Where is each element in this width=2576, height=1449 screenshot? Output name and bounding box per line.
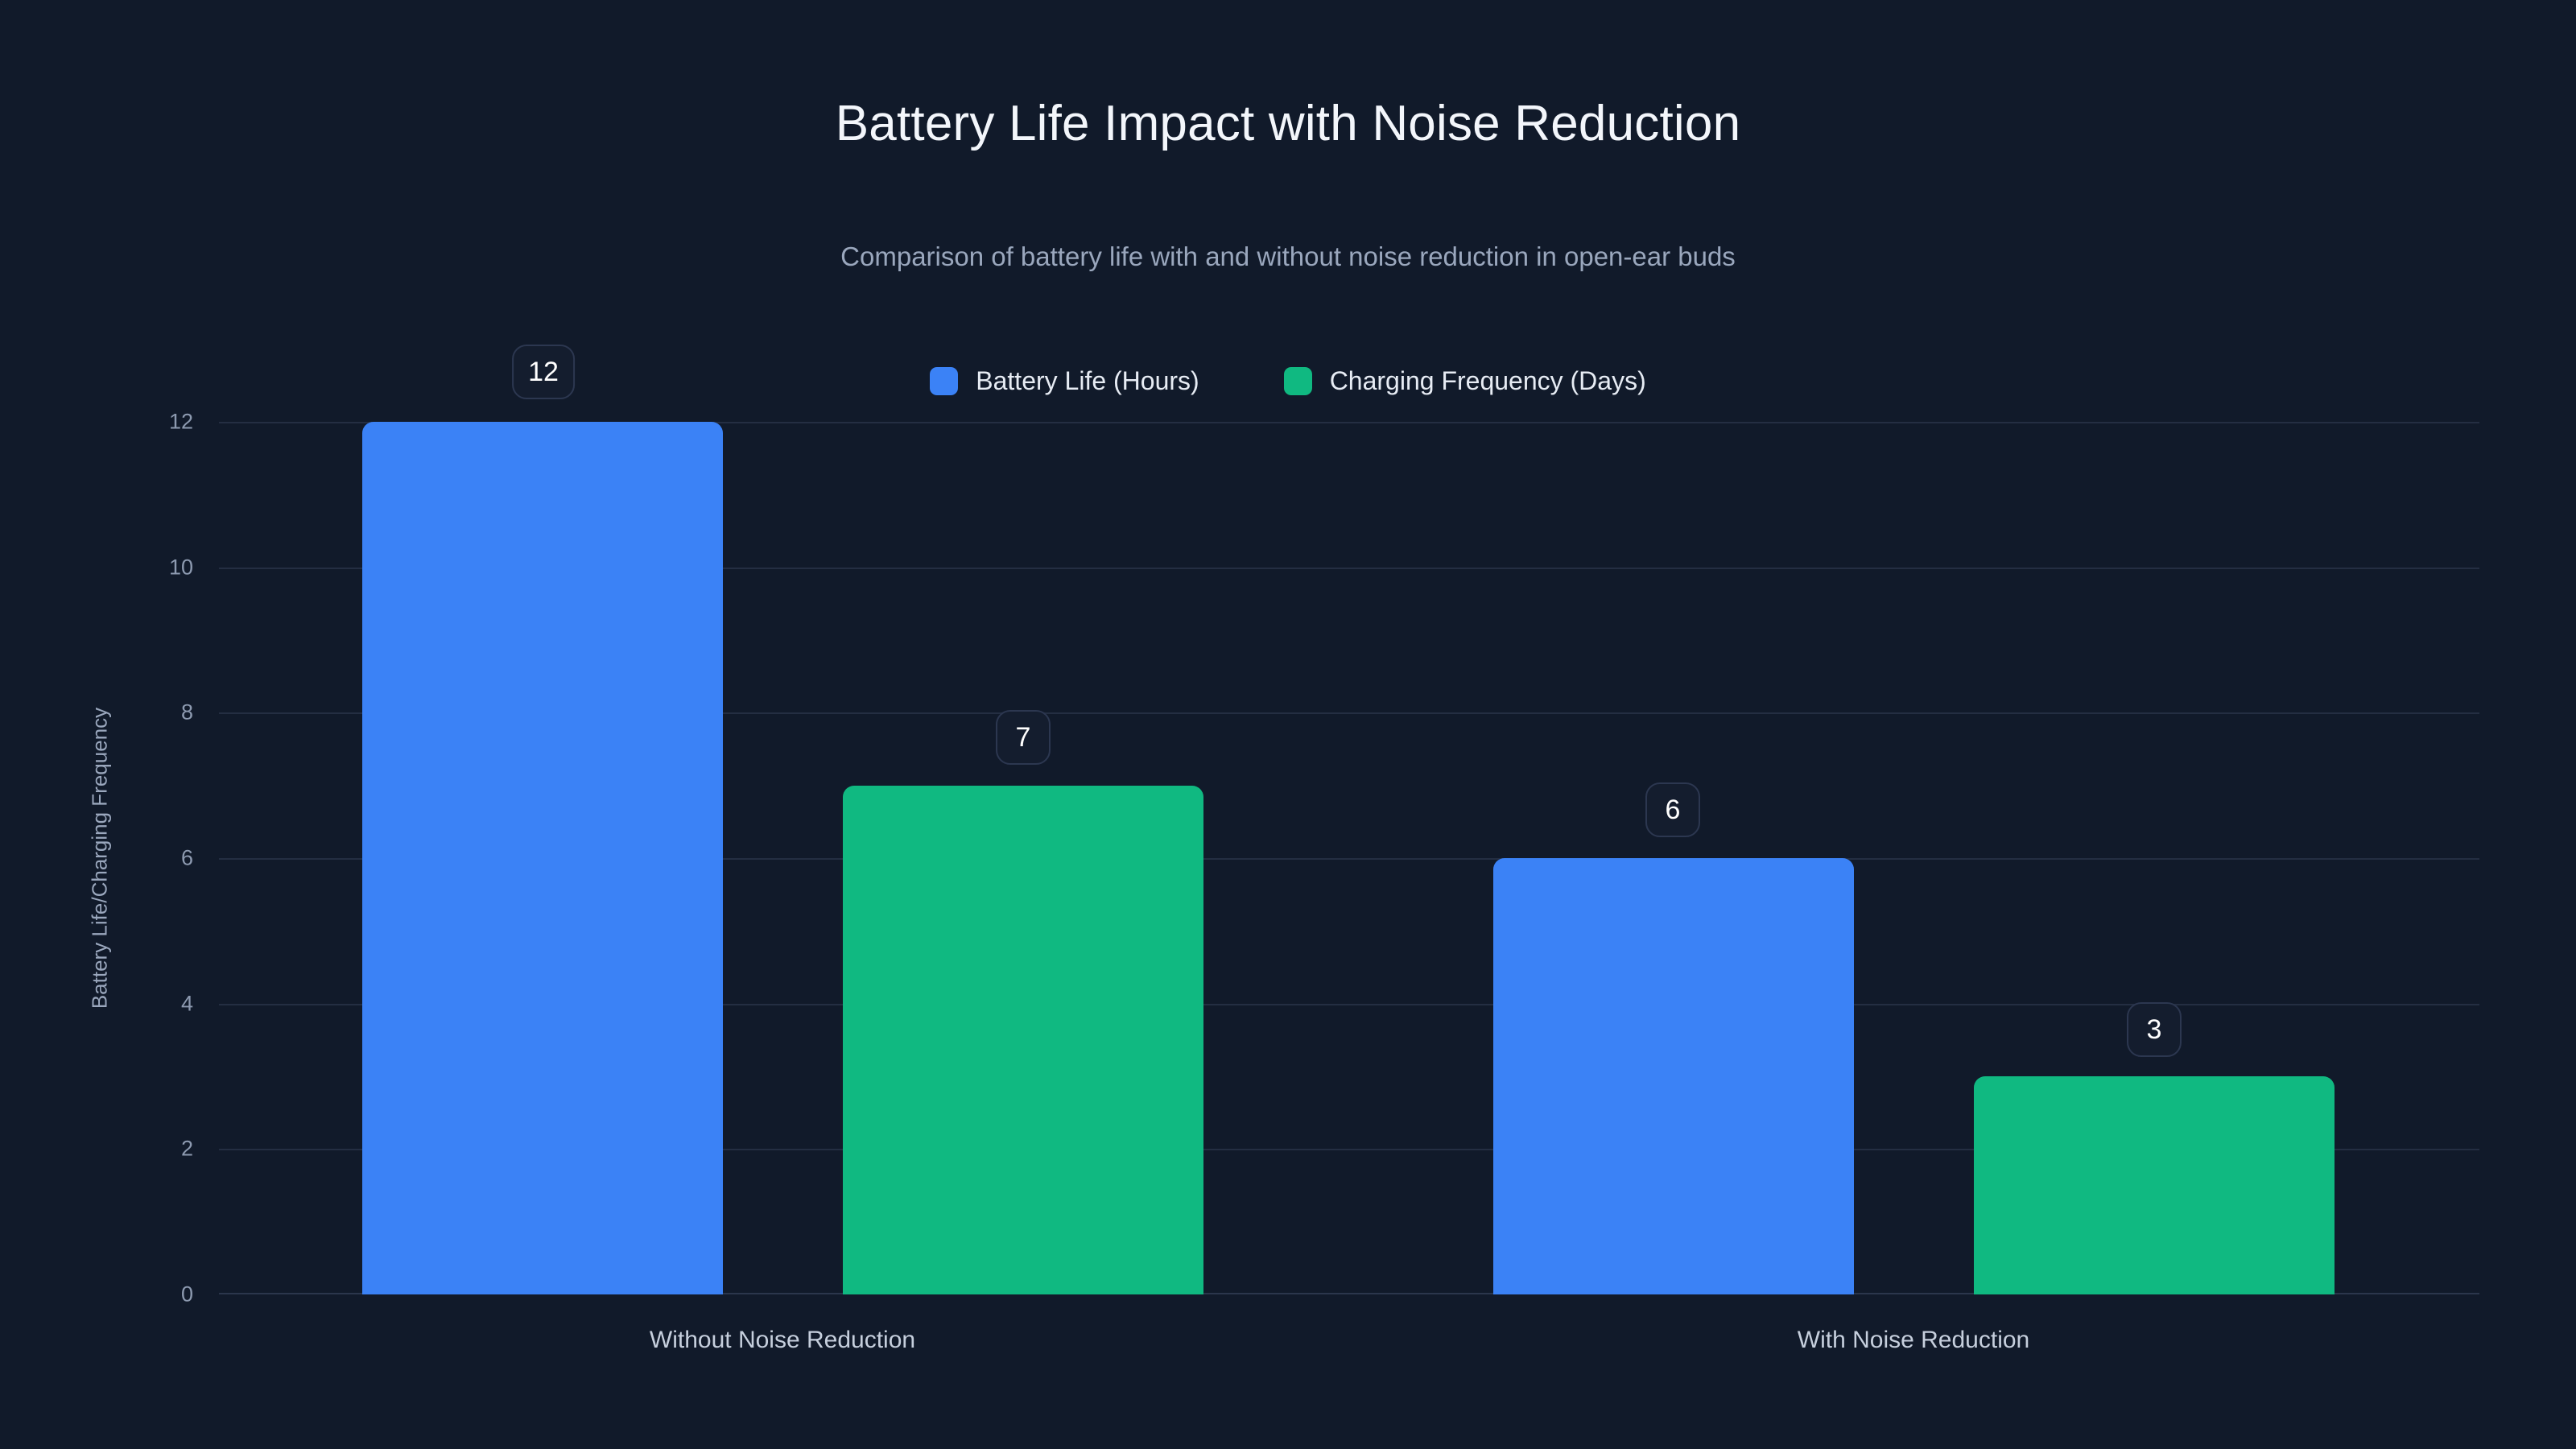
value-badge-6: 6	[1645, 782, 1700, 837]
y-tick-6: 6	[137, 846, 193, 871]
value-badge-3: 3	[2127, 1002, 2182, 1057]
y-tick-8: 8	[137, 700, 193, 725]
y-tick-10: 10	[137, 555, 193, 580]
bar-with-noise-reduction-battery-life[interactable]	[1493, 858, 1854, 1294]
plot-area	[219, 422, 2479, 1294]
chart-canvas: Battery Life Impact with Noise Reduction…	[0, 0, 2576, 1449]
y-tick-4: 4	[137, 992, 193, 1017]
bar-without-noise-reduction-battery-life[interactable]	[362, 422, 723, 1294]
x-tick-without-noise-reduction: Without Noise Reduction	[650, 1327, 915, 1354]
bar-without-noise-reduction-charging-frequency[interactable]	[843, 786, 1203, 1294]
y-tick-12: 12	[137, 410, 193, 435]
bar-with-noise-reduction-charging-frequency[interactable]	[1974, 1076, 2334, 1294]
x-tick-with-noise-reduction: With Noise Reduction	[1798, 1327, 2029, 1354]
y-tick-0: 0	[137, 1282, 193, 1307]
value-badge-12: 12	[512, 345, 575, 399]
y-tick-2: 2	[137, 1137, 193, 1162]
value-badge-7: 7	[996, 710, 1051, 765]
